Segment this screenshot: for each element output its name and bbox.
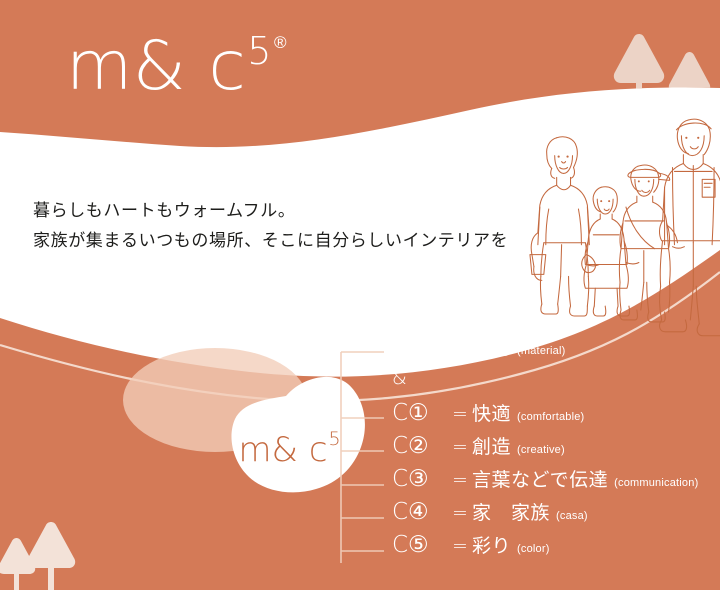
legend-key: & (392, 369, 407, 388)
legend-row: C③ = 言葉などで伝達 (communication) (392, 468, 720, 501)
legend-equals: = (448, 504, 472, 523)
legend-term-jp: 創造 (472, 438, 511, 457)
legend-term-en: (creative) (517, 445, 565, 456)
legend-term-en: (color) (517, 544, 550, 555)
legend-equals: = (448, 471, 472, 490)
legend-row: C⑤ = 彩り (color) (392, 534, 720, 567)
legend-term-jp: 素材 (472, 339, 511, 358)
tagline-line-1: 暮らしもハートもウォームフル。 (33, 196, 508, 226)
legend-term-en: (communication) (614, 478, 698, 489)
legend-row: C② = 創造 (creative) (392, 435, 720, 468)
legend-key: m (392, 336, 448, 359)
legend-equals: = (448, 405, 472, 424)
legend-equals: = (448, 339, 472, 358)
legend-term-en: (casa) (556, 511, 588, 522)
legend-list: m = 素材 (material) & C① = 快適 (comfortable… (392, 336, 720, 567)
legend-key: C③ (392, 468, 448, 491)
brand-panel: m& c 5 ® 暮らしもハートもウォームフル。 家族が集まるいつもの場所、そこ… (0, 0, 720, 590)
legend-key: C④ (392, 501, 448, 524)
legend-key: C⑤ (392, 534, 448, 557)
legend-term-jp: 彩り (472, 537, 511, 556)
legend-key: C② (392, 435, 448, 458)
legend-term-jp: 家 家族 (472, 504, 550, 523)
legend-row-ampersand: & (392, 369, 720, 402)
legend-equals: = (448, 537, 472, 556)
legend-term-en: (comfortable) (517, 412, 584, 423)
tagline: 暮らしもハートもウォームフル。 家族が集まるいつもの場所、そこに自分らしいインテ… (33, 196, 508, 256)
tagline-line-2: 家族が集まるいつもの場所、そこに自分らしいインテリアを (33, 226, 508, 256)
legend-term-jp: 快適 (472, 405, 511, 424)
legend-row: C① = 快適 (comfortable) (392, 402, 720, 435)
legend-term-jp: 言葉などで伝達 (472, 471, 608, 490)
legend-term-en: (material) (517, 346, 565, 357)
legend-row: m = 素材 (material) (392, 336, 720, 369)
legend-equals: = (448, 438, 472, 457)
legend-key: C① (392, 402, 448, 425)
legend-row: C④ = 家 家族 (casa) (392, 501, 720, 534)
